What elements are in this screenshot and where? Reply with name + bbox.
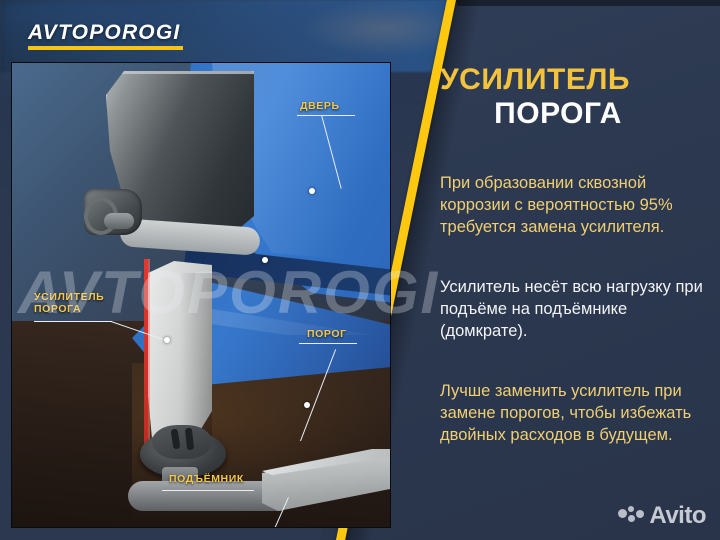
callout-label-lift: ПОДЪЁМНИК: [169, 473, 244, 485]
callout-dot-sill: [262, 257, 268, 263]
callout-underline-reinforcement: [34, 321, 112, 322]
headline-line-1: УСИЛИТЕЛЬ: [440, 64, 704, 96]
callout-label-door: ДВЕРЬ: [300, 100, 340, 112]
paragraph-corrosion: При образовании сквозной коррозии с веро…: [440, 173, 704, 239]
callout-underline-door: [297, 115, 355, 116]
brand-logo-underline: [28, 46, 183, 50]
brand-logo[interactable]: AVTOPOROGI: [28, 22, 183, 50]
avito-logo-icon: [618, 506, 644, 526]
callout-underline-lift: [162, 490, 254, 491]
callout-dot-reinforcement: [164, 337, 170, 343]
paragraph-load: Усилитель несёт всю нагрузку при подъёме…: [440, 277, 704, 343]
brand-logo-text: AVTOPOROGI: [28, 22, 183, 43]
door-hinge-pin: [104, 213, 134, 229]
corrosion-red-edge-glow: [148, 259, 150, 455]
callout-underline-sill: [299, 343, 357, 344]
avito-logo-text: Avito: [649, 502, 706, 530]
avito-watermark: Avito: [618, 502, 706, 530]
illustration: ДВЕРЬ УСИЛИТЕЛЬ ПОРОГА ПОРОГ ПОДЪЁМНИК: [12, 63, 390, 527]
callout-dot-lift: [304, 402, 310, 408]
callout-label-reinforcement: УСИЛИТЕЛЬ ПОРОГА: [34, 291, 104, 316]
callout-label-sill: ПОРОГ: [307, 328, 347, 340]
paragraph-replace-advice: Лучше заменить усилитель при замене поро…: [440, 381, 704, 447]
callout-label-reinforcement-line2: ПОРОГА: [34, 303, 104, 315]
illustration-frame: ДВЕРЬ УСИЛИТЕЛЬ ПОРОГА ПОРОГ ПОДЪЁМНИК: [12, 63, 390, 527]
sill-reinforcement-shadow: [180, 273, 212, 443]
jack-pad-inner: [152, 425, 212, 459]
promo-banner: AVTOPOROGI: [0, 0, 720, 540]
headline-line-2: ПОРОГА: [440, 98, 704, 130]
callout-label-reinforcement-line1: УСИЛИТЕЛЬ: [34, 291, 104, 303]
text-column: УСИЛИТЕЛЬ ПОРОГА При образовании сквозно…: [440, 64, 704, 446]
callout-dot-door: [309, 188, 315, 194]
